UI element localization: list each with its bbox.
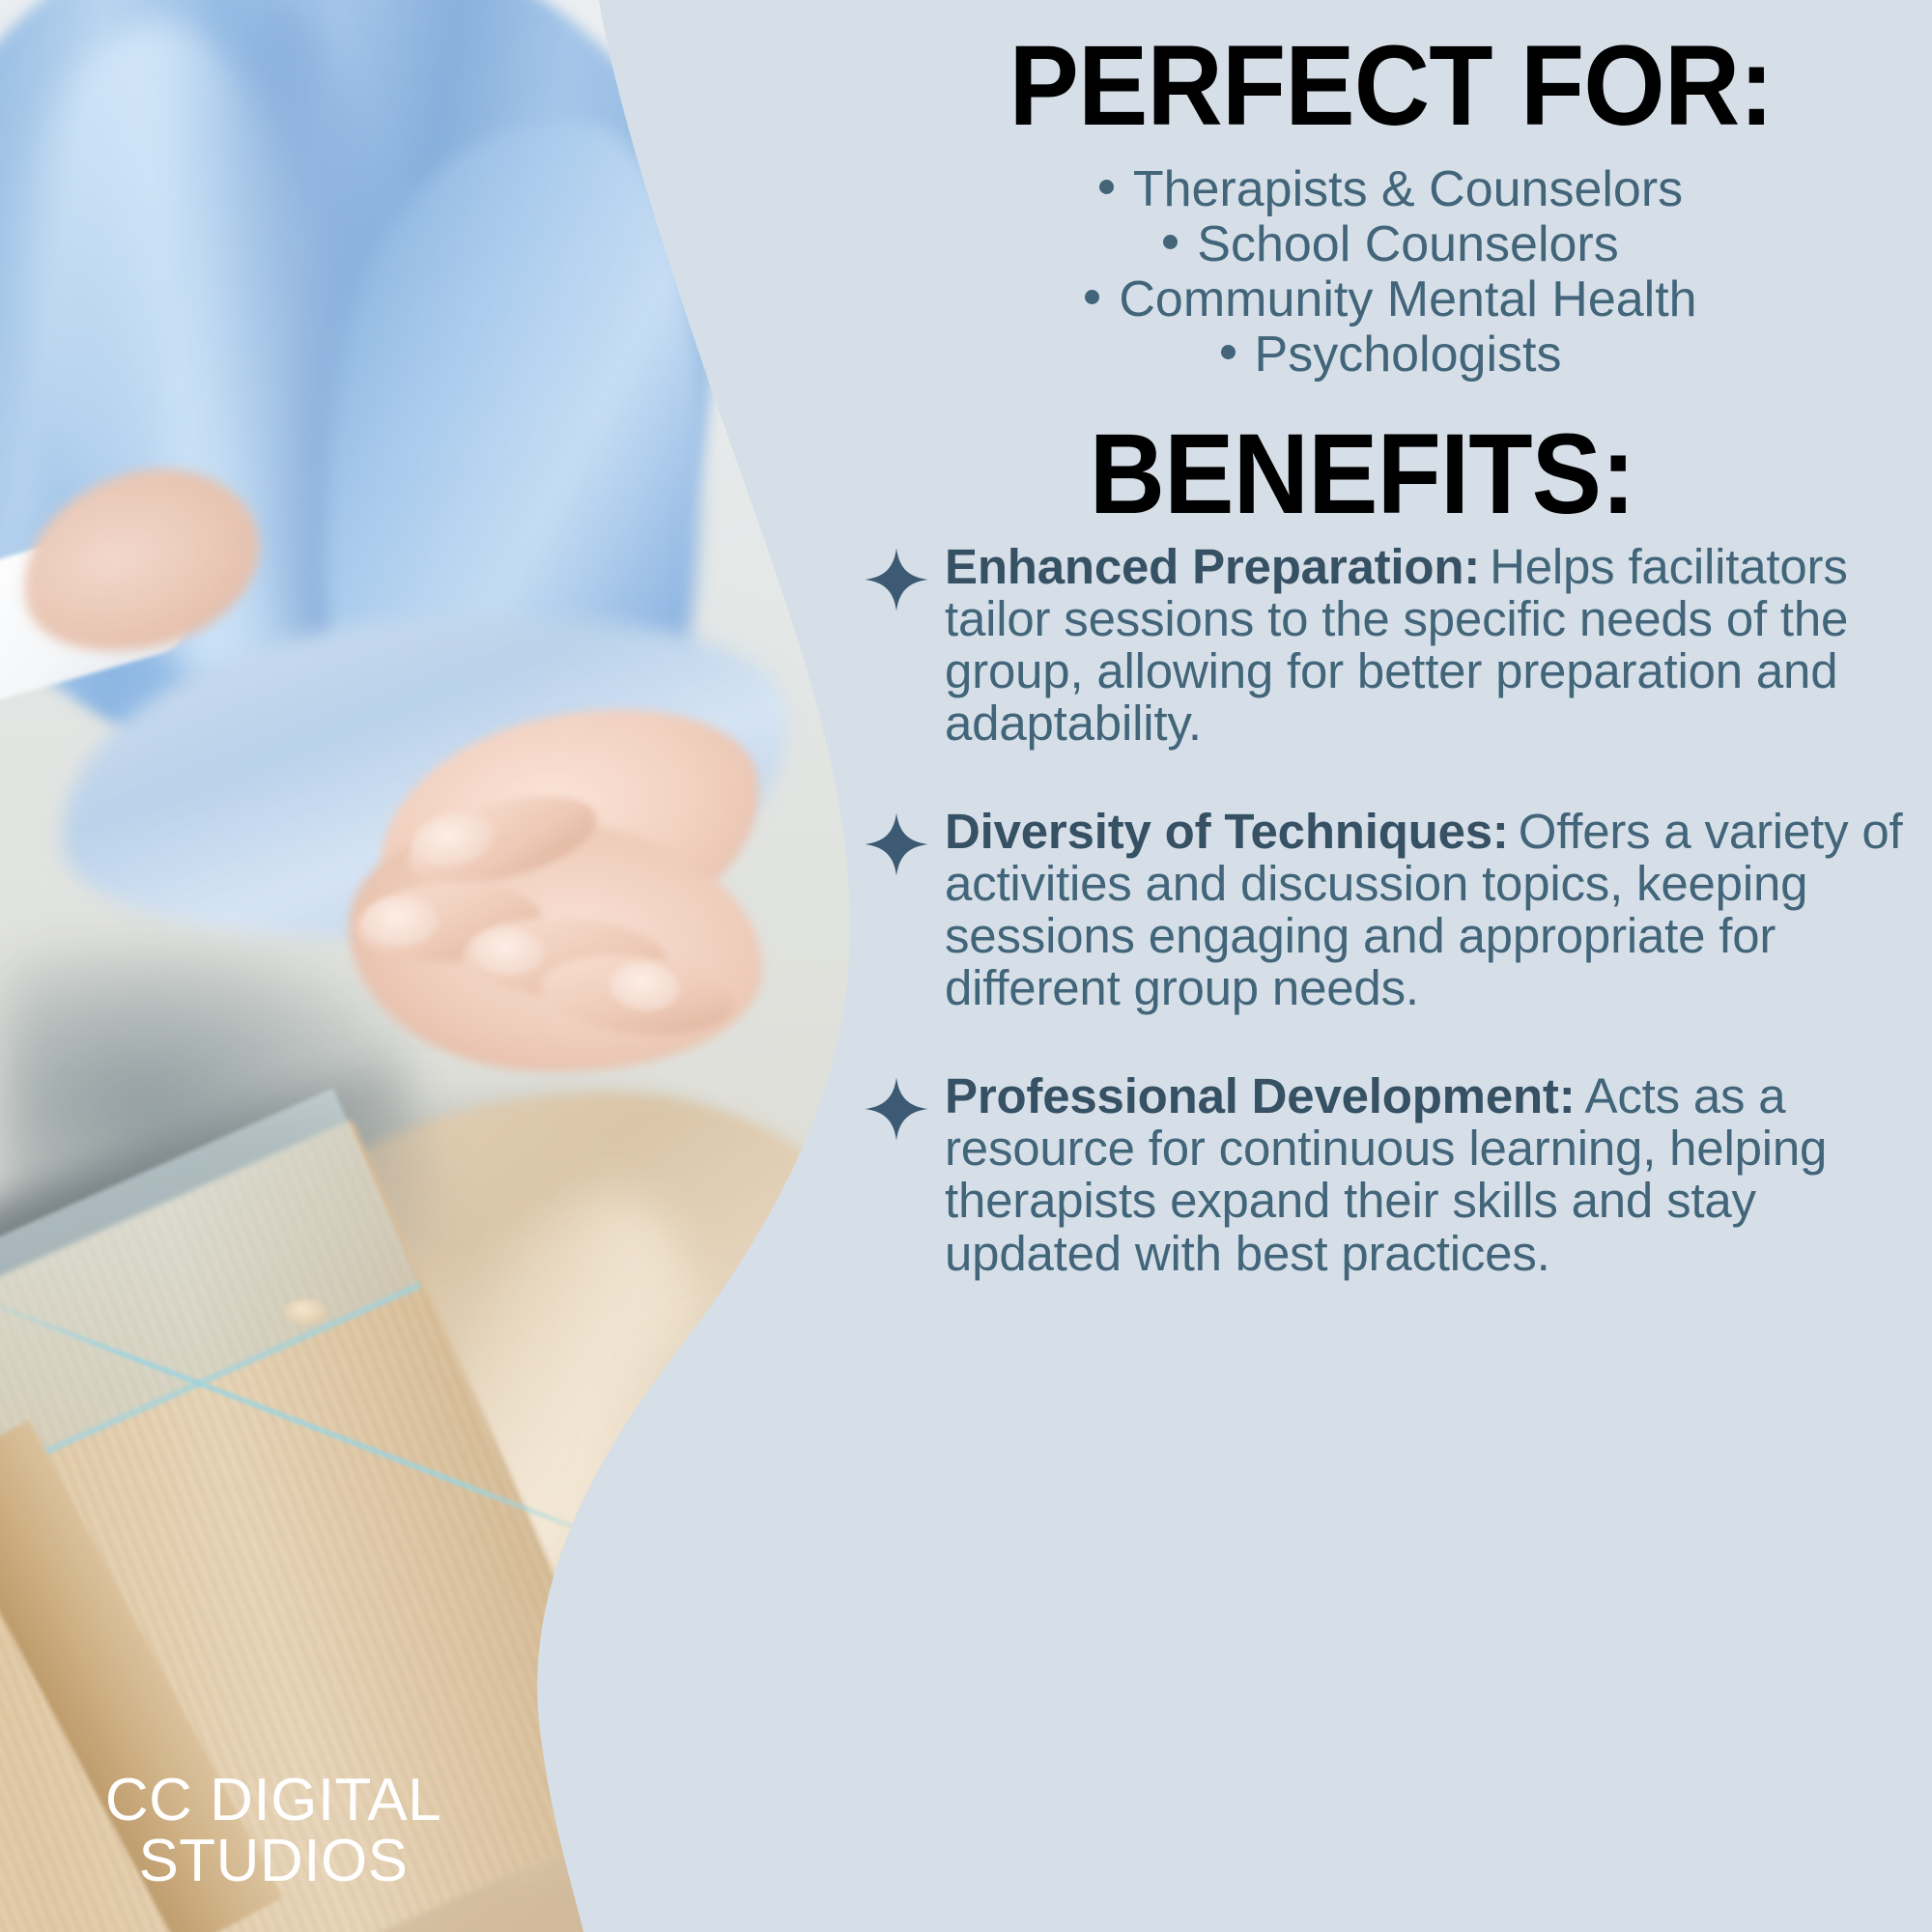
photo-haze-overlay — [0, 0, 889, 1932]
audience-item: Community Mental Health — [850, 274, 1932, 326]
bullet-dot-icon — [1163, 235, 1178, 249]
brand-line-2: STUDIOS — [46, 1831, 500, 1891]
benefit-label: Professional Development: — [945, 1068, 1576, 1123]
benefits-heading: BENEFITS: — [891, 417, 1833, 531]
content-panel: PERFECT FOR: Therapists & Counselors Sch… — [850, 0, 1932, 1932]
brand-line-1: CC DIGITAL — [46, 1770, 500, 1831]
benefit-item: Diversity of Techniques:Offers a variety… — [858, 806, 1932, 1014]
benefit-text: Diversity of Techniques:Offers a variety… — [945, 806, 1932, 1014]
audience-item: School Counselors — [850, 219, 1932, 270]
audience-item-label: Therapists & Counselors — [1133, 161, 1683, 217]
benefits-list: Enhanced Preparation:Helps facilitators … — [858, 541, 1932, 1336]
therapy-session-photo — [0, 0, 889, 1932]
promotional-poster: CC DIGITAL STUDIOS PERFECT FOR: Therapis… — [0, 0, 1932, 1932]
sparkle-icon — [864, 547, 929, 612]
benefit-item: Enhanced Preparation:Helps facilitators … — [858, 541, 1932, 750]
audience-list: Therapists & Counselors School Counselor… — [850, 164, 1932, 384]
audience-item-label: Psychologists — [1255, 327, 1562, 383]
bullet-dot-icon — [1221, 345, 1236, 359]
benefit-item: Professional Development:Acts as a resou… — [858, 1070, 1932, 1279]
audience-item: Therapists & Counselors — [850, 164, 1932, 215]
benefit-text: Enhanced Preparation:Helps facilitators … — [945, 541, 1932, 750]
benefit-label: Enhanced Preparation: — [945, 539, 1480, 594]
benefit-text: Professional Development:Acts as a resou… — [945, 1070, 1932, 1279]
benefit-label: Diversity of Techniques: — [945, 804, 1509, 859]
perfect-for-heading: PERFECT FOR: — [894, 29, 1889, 143]
audience-item-label: School Counselors — [1197, 216, 1618, 272]
sparkle-icon — [864, 1076, 929, 1142]
audience-item-label: Community Mental Health — [1119, 271, 1696, 327]
sparkle-icon — [864, 811, 929, 877]
brand-watermark: CC DIGITAL STUDIOS — [46, 1770, 500, 1891]
audience-item: Psychologists — [850, 329, 1932, 381]
bullet-dot-icon — [1085, 290, 1099, 304]
bullet-dot-icon — [1099, 180, 1114, 194]
